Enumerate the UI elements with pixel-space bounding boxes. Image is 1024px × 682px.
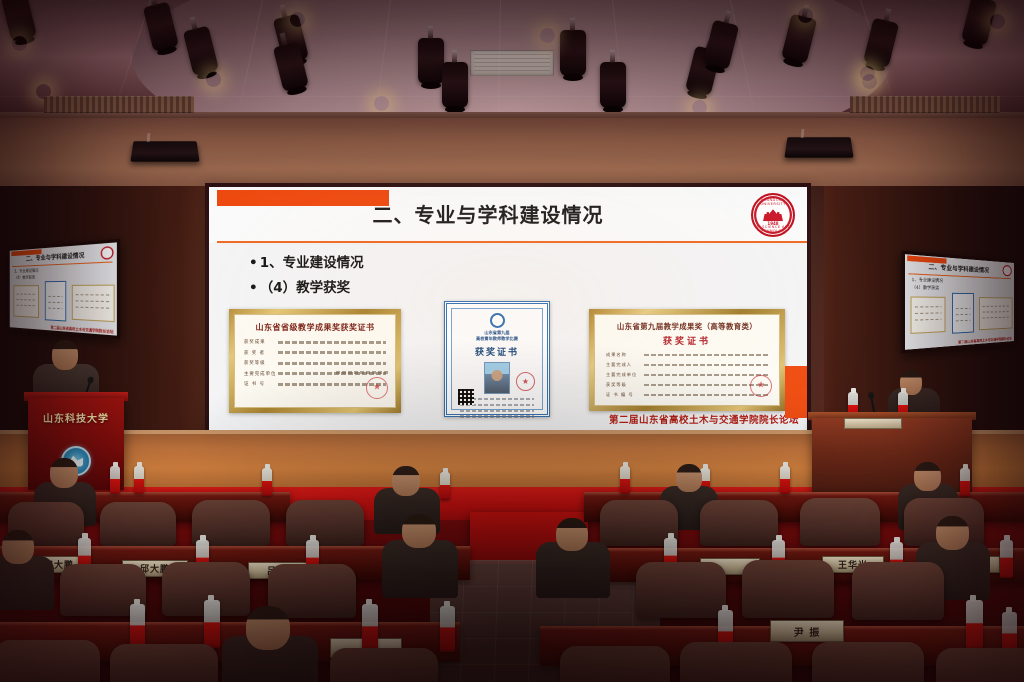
water-bottle bbox=[110, 466, 120, 494]
water-bottle bbox=[1000, 540, 1013, 578]
ceiling-downlight bbox=[798, 8, 813, 23]
audience-chair bbox=[812, 642, 924, 682]
certificate-field-label: 证 书 编 号 bbox=[606, 392, 644, 398]
stage-spotlight bbox=[418, 38, 444, 84]
audience-chair bbox=[110, 644, 218, 682]
bullet-dot-icon: • bbox=[249, 255, 255, 271]
certificate-gallery: 山东省省级教学成果奖获奖证书 获奖成果 获 奖 者 获奖等级 主要完成单位 证 … bbox=[209, 305, 807, 425]
projection-screen: 二、专业与学科建设情况 SHANDONG UNIVERSITY 1948 OF … bbox=[209, 187, 807, 432]
water-bottle bbox=[134, 466, 144, 494]
certificate-middle-line2: 高校青年教师教学比赛 bbox=[452, 336, 542, 342]
seal-building-icon bbox=[763, 208, 783, 221]
ceiling-downlight bbox=[990, 14, 1005, 29]
certificate-field bbox=[460, 410, 534, 412]
certificate-portrait-photo bbox=[484, 362, 510, 394]
certificate-field-value bbox=[644, 354, 768, 357]
slide-title: 二、专业与学科建设情况 bbox=[209, 199, 807, 228]
monitor-certificate bbox=[911, 296, 946, 333]
audience-chair bbox=[852, 562, 944, 620]
certificate-field: 获奖等级 bbox=[606, 382, 768, 388]
audience-chair bbox=[100, 502, 176, 546]
certificate-field-value bbox=[278, 351, 386, 354]
audience-chair bbox=[936, 648, 1024, 682]
audience-head bbox=[676, 464, 702, 492]
ceiling-downlight bbox=[540, 28, 555, 43]
certificate-field: 主要完成人 bbox=[606, 362, 768, 368]
monitor-certificate bbox=[45, 281, 66, 322]
audience-chair bbox=[700, 500, 778, 546]
monitor-certificate bbox=[979, 297, 1012, 330]
certificate-field-value bbox=[278, 362, 386, 365]
water-bottle bbox=[262, 468, 272, 496]
wall-vent-grille bbox=[44, 96, 194, 113]
certificate-signature bbox=[336, 371, 388, 374]
certificate-field: 获 奖 者 bbox=[244, 350, 386, 356]
audience-head bbox=[402, 514, 436, 548]
water-bottle bbox=[440, 472, 450, 500]
certificate-field: 获奖等级 bbox=[244, 360, 386, 366]
audience-head bbox=[392, 466, 420, 496]
ceiling-downlight bbox=[374, 96, 389, 111]
air-vent-icon bbox=[470, 50, 554, 76]
slide-bullet-text: （4）教学获奖 bbox=[260, 280, 350, 296]
monitor-certificate bbox=[14, 285, 39, 318]
monitor-banner: 第二届山东省高校土木与交通学院院长论坛 bbox=[51, 324, 114, 334]
water-bottle bbox=[440, 606, 455, 652]
certificate-field bbox=[460, 415, 534, 417]
audience-head bbox=[50, 458, 78, 488]
red-official-seal-icon bbox=[750, 375, 772, 397]
certificate-field: 证 书 编 号 bbox=[606, 392, 768, 398]
certificate-field: 成果名称 bbox=[606, 352, 768, 358]
stage-spotlight bbox=[600, 62, 626, 108]
wall-vent-grille bbox=[850, 96, 1000, 113]
audience-body bbox=[382, 540, 458, 598]
podium-institution-text: 山东科技大学 bbox=[28, 410, 124, 425]
audience-chair bbox=[680, 642, 792, 682]
certificate-field-label: 证 书 号 bbox=[244, 381, 278, 387]
certificate-right: 山东省第九届教学成果奖（高等教育类） 获奖证书 成果名称 主要完成人 主要完成单… bbox=[589, 309, 785, 411]
monitor-certificate bbox=[952, 293, 974, 334]
audience-chair bbox=[286, 500, 364, 546]
certificate-field-value bbox=[644, 374, 768, 377]
slide-orange-block bbox=[785, 366, 807, 418]
audience-head bbox=[936, 516, 969, 550]
certificate-middle-title: 获奖证书 bbox=[452, 345, 542, 358]
monitor-bullet: 1、专业建设情况 bbox=[14, 268, 38, 275]
water-bottle bbox=[362, 604, 378, 652]
university-seal-icon: SHANDONG UNIVERSITY 1948 OF SCIENCE AND … bbox=[751, 193, 795, 237]
slide-event-banner: 第二届山东省高校土木与交通学院院长论坛 bbox=[609, 412, 799, 426]
monitor-bullet: （4）教学获奖 bbox=[14, 275, 35, 281]
water-bottle bbox=[960, 468, 970, 496]
certificate-middle: 山东省第九届 高校青年教师教学比赛 获奖证书 bbox=[444, 301, 550, 417]
slide-header: 二、专业与学科建设情况 SHANDONG UNIVERSITY 1948 OF … bbox=[209, 187, 807, 243]
certificate-field-label: 获 奖 者 bbox=[244, 350, 278, 356]
slide-bullet: • （4）教学获奖 bbox=[249, 276, 364, 296]
certificate-field-label: 获奖等级 bbox=[244, 360, 278, 366]
projection-screen-frame: 二、专业与学科建设情况 SHANDONG UNIVERSITY 1948 OF … bbox=[205, 183, 811, 436]
conference-hall-scene: 二、专业与学科建设情况 SHANDONG UNIVERSITY 1948 OF … bbox=[0, 0, 1024, 682]
stage-spotlight bbox=[560, 30, 586, 76]
slide-body: • 1、专业建设情况 • （4）教学获奖 山东省省级教学成果奖获奖证书 bbox=[209, 245, 807, 432]
monitor-certificate bbox=[72, 285, 115, 323]
slide-bullet: • 1、专业建设情况 bbox=[249, 251, 364, 271]
certificate-field-label: 主要完成人 bbox=[606, 362, 644, 368]
red-official-seal-icon bbox=[516, 372, 535, 391]
certificate-field-label: 主要完成单位 bbox=[606, 372, 644, 378]
moderator-desk bbox=[812, 418, 972, 494]
slide-title-rule bbox=[217, 241, 807, 243]
certificate-field-label: 主要完成单位 bbox=[244, 371, 278, 377]
certificate-field: 主要完成单位 bbox=[606, 372, 768, 378]
stage-spotlight bbox=[442, 62, 468, 108]
ceiling-downlight bbox=[206, 72, 221, 87]
water-bottle bbox=[780, 466, 790, 494]
bullet-dot-icon: • bbox=[249, 280, 255, 296]
water-bottle bbox=[204, 600, 220, 648]
university-seal-icon bbox=[1003, 265, 1012, 277]
certificate-right-heading: 山东省第九届教学成果奖（高等教育类） bbox=[595, 321, 779, 332]
certificate-left: 山东省省级教学成果奖获奖证书 获奖成果 获 奖 者 获奖等级 主要完成单位 证 … bbox=[229, 309, 401, 413]
certificate-field-value bbox=[278, 341, 386, 344]
loudspeaker-icon bbox=[784, 137, 853, 157]
side-monitor-left: 二、专业与学科建设情况 1、专业建设情况 （4）教学获奖 第二届山东省高校土木与… bbox=[8, 239, 121, 340]
audience-head bbox=[2, 530, 34, 564]
monitor-bullet: 1、专业建设情况 bbox=[912, 277, 943, 285]
audience-chair bbox=[330, 648, 438, 682]
certificate-right-title: 获奖证书 bbox=[595, 334, 779, 347]
certificate-field: 获奖成果 bbox=[244, 339, 386, 345]
audience-head bbox=[246, 606, 290, 650]
certificate-emblem-icon bbox=[490, 313, 505, 328]
ceiling-downlight bbox=[290, 12, 305, 27]
water-bottle bbox=[966, 600, 983, 650]
name-placard: 尹 振 bbox=[770, 620, 844, 642]
certificate-field-label: 获奖等级 bbox=[606, 382, 644, 388]
side-monitor-right: 二、专业与学科建设情况 1、专业建设情况 （4）教学获奖 第二届山东省高校土木与… bbox=[902, 251, 1017, 354]
audience-body bbox=[0, 556, 54, 610]
audience-chair bbox=[636, 562, 726, 618]
certificate-field-label: 成果名称 bbox=[606, 352, 644, 358]
presenter-head bbox=[52, 340, 78, 370]
ceiling-downlight bbox=[862, 74, 877, 89]
certificate-field-value bbox=[644, 364, 768, 367]
certificate-left-heading: 山东省省级教学成果奖获奖证书 bbox=[235, 322, 395, 333]
audience-head bbox=[914, 462, 941, 491]
seal-arc-bottom: OF SCIENCE AND TECHNOLOGY bbox=[753, 225, 793, 233]
audience-chair bbox=[560, 646, 670, 682]
ceiling-downlight bbox=[12, 36, 27, 51]
loudspeaker-icon bbox=[130, 141, 199, 161]
moderator-nameplate bbox=[844, 418, 902, 429]
monitor-bullet: （4）教学获奖 bbox=[912, 284, 940, 291]
certificate-field: 证 书 号 bbox=[244, 381, 386, 387]
seal-arc-top: SHANDONG UNIVERSITY bbox=[753, 198, 793, 206]
monitor-banner: 第二届山东省高校土木与交通学院院长论坛 bbox=[958, 336, 1011, 345]
audience-chair bbox=[0, 640, 100, 682]
slide-bullet-text: 1、专业建设情况 bbox=[260, 255, 364, 271]
audience-chair bbox=[800, 498, 880, 546]
certificate-field-value bbox=[644, 394, 768, 397]
water-bottle bbox=[620, 466, 630, 494]
certificate-field-label: 获奖成果 bbox=[244, 339, 278, 345]
audience-chair bbox=[742, 560, 834, 618]
red-official-seal-icon bbox=[366, 377, 388, 399]
audience-head bbox=[556, 518, 588, 551]
qr-code-icon bbox=[458, 389, 474, 405]
slide-bullet-list: • 1、专业建设情况 • （4）教学获奖 bbox=[249, 251, 364, 301]
